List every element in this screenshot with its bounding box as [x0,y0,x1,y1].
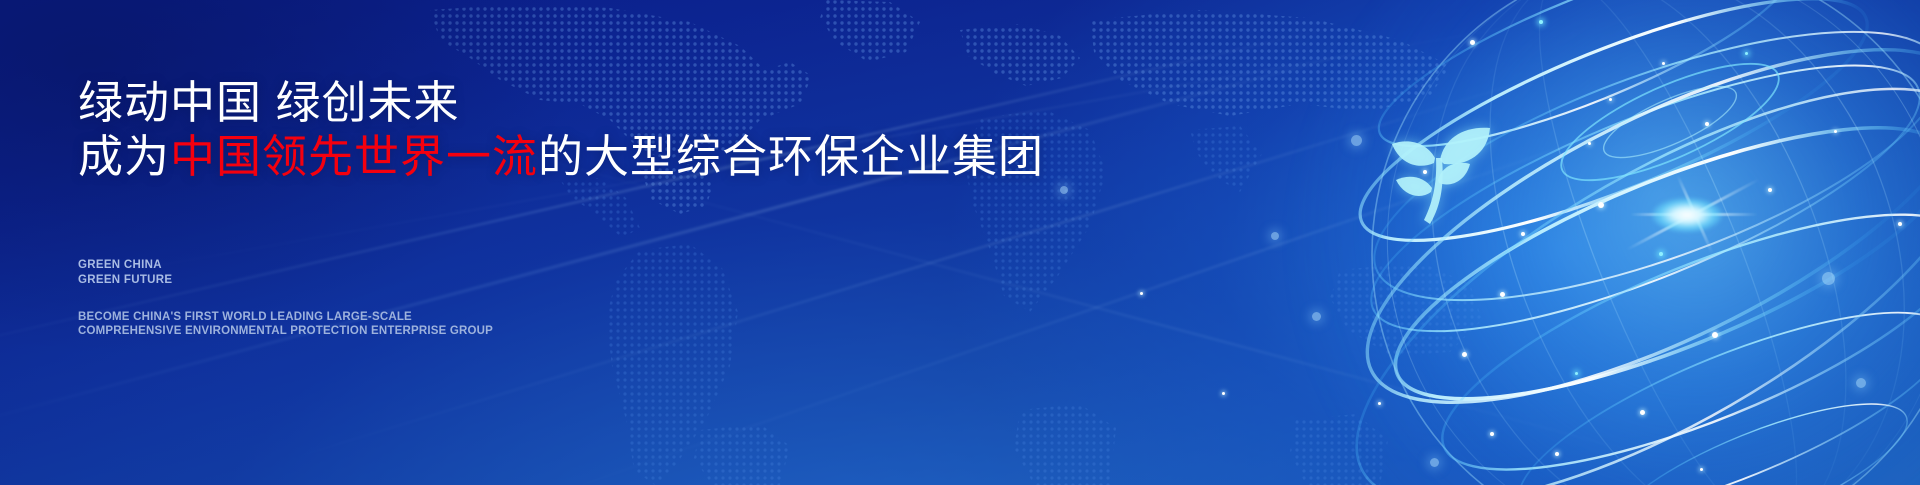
wireframe-globe-icon [1318,0,1920,485]
description-line-2: COMPREHENSIVE ENVIRONMENTAL PROTECTION E… [78,324,493,338]
globe-glow [1290,0,1920,485]
burst-core [1652,198,1722,232]
slogan-english: GREEN CHINA GREEN FUTURE [78,258,172,288]
burst-ray [1676,175,1714,255]
headline-line2-prefix: 成为 [78,131,170,182]
description-line-1: BECOME CHINA'S FIRST WORLD LEADING LARGE… [78,310,493,324]
slogan-line-1: GREEN CHINA [78,258,172,273]
hero-banner: 绿动中国 绿创未来 成为中国领先世界一流的大型综合环保企业集团 GREEN CH… [0,0,1920,485]
light-burst-icon [1590,150,1790,300]
slogan-line-2: GREEN FUTURE [78,273,172,288]
headline-highlight: 中国领先世界一流 [170,131,538,182]
banner-copy: 绿动中国 绿创未来 成为中国领先世界一流的大型综合环保企业集团 GREEN CH… [78,0,1078,485]
headline-line-1: 绿动中国 绿创未来 [78,76,1044,130]
headline-line2-suffix: 的大型综合环保企业集团 [538,131,1044,182]
headline-line-2: 成为中国领先世界一流的大型综合环保企业集团 [78,130,1044,184]
burst-ray [1626,178,1760,251]
headline: 绿动中国 绿创未来 成为中国领先世界一流的大型综合环保企业集团 [78,76,1044,184]
description-english: BECOME CHINA'S FIRST WORLD LEADING LARGE… [78,310,493,338]
sprout-leaf-icon [1380,108,1498,228]
burst-ray [1630,213,1758,216]
